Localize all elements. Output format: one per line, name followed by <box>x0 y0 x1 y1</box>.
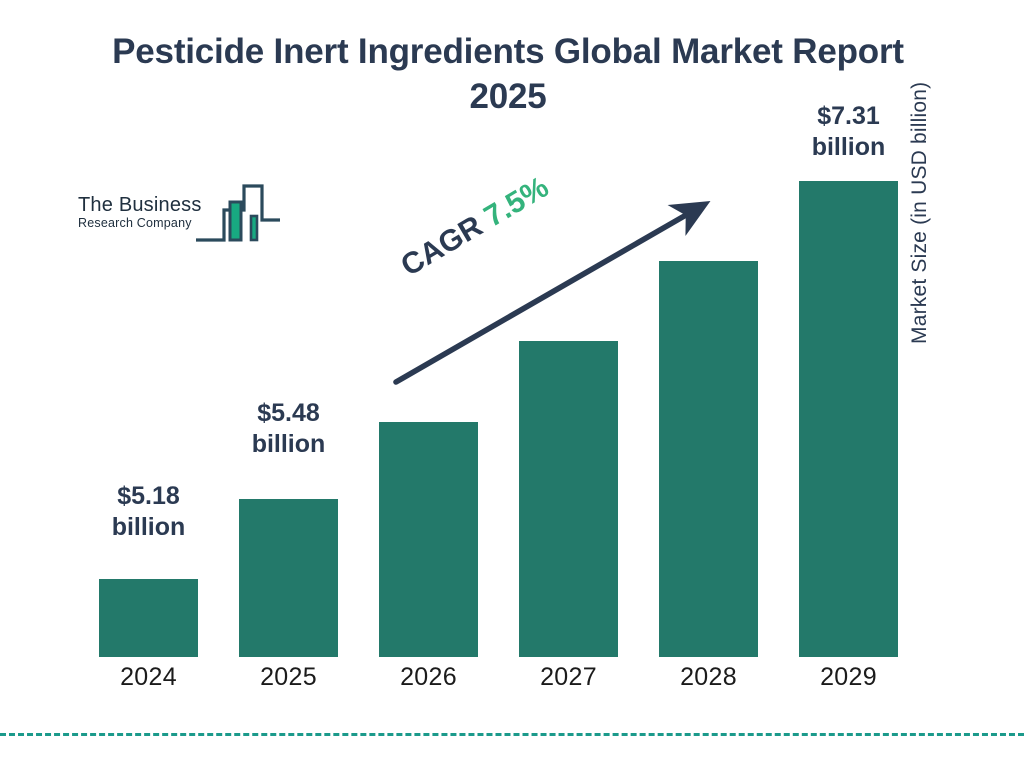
company-logo: The Business Research Company <box>76 182 286 254</box>
x-tick-2029: 2029 <box>789 663 908 692</box>
value-label-2024: $5.18 billion <box>79 481 218 544</box>
market-size-bar-chart: Pesticide Inert Ingredients Global Marke… <box>0 0 1024 768</box>
bar-2025 <box>239 499 338 657</box>
bar-2026 <box>379 422 478 657</box>
cagr-label: CAGR <box>395 210 488 283</box>
bar-2024 <box>99 579 198 657</box>
x-tick-2026: 2026 <box>369 663 488 692</box>
x-tick-2025: 2025 <box>229 663 348 692</box>
x-tick-2024: 2024 <box>89 663 208 692</box>
cagr-annotation: CAGR 7.5% <box>395 171 554 284</box>
x-tick-2027: 2027 <box>509 663 628 692</box>
bar-2028 <box>659 261 758 657</box>
bar-chart-logo-mark-icon <box>194 182 286 249</box>
bar-2027 <box>519 341 618 657</box>
cagr-value: 7.5% <box>479 171 555 234</box>
footer-divider <box>0 733 1024 736</box>
bar-2029 <box>799 181 898 657</box>
x-tick-2028: 2028 <box>649 663 768 692</box>
value-label-2025: $5.48 billion <box>219 398 358 461</box>
value-label-2029: $7.31 billion <box>779 101 918 164</box>
y-axis-title: Market Size (in USD billion) <box>908 0 932 344</box>
